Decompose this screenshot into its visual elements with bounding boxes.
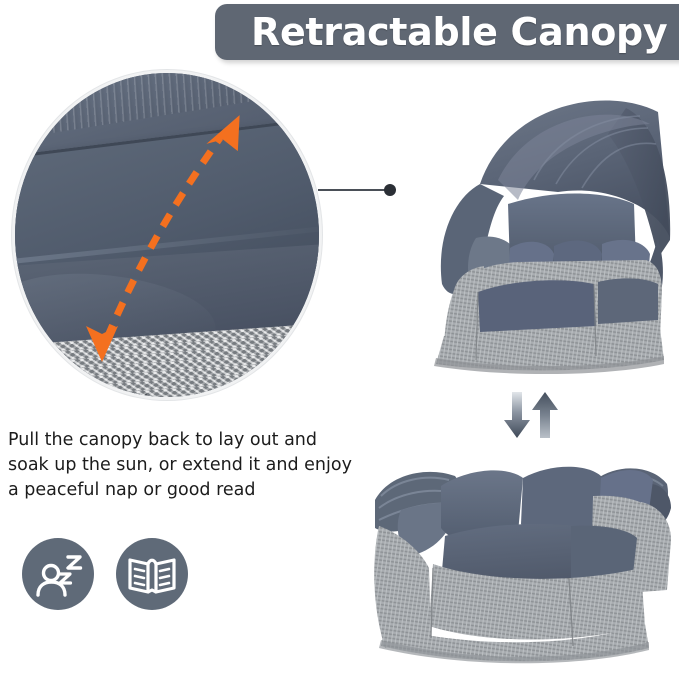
sleeping-person-icon [32,548,84,600]
feature-badge-read [116,538,188,610]
canopy-closeup-magnifier [12,70,322,400]
page-title: Retractable Canopy [251,13,667,51]
description-line-2: soak up the sun, or extend it and enjoy [8,453,348,478]
description-line-3: a peaceful nap or good read [8,478,348,503]
feature-badge-nap [22,538,94,610]
arrow-down-icon [504,392,530,438]
product-photo-canopy-retracted [345,440,679,668]
feature-description: Pull the canopy back to lay out and soak… [8,428,348,503]
open-book-icon [126,548,178,600]
arrow-up-icon [532,392,558,438]
retract-direction-arrow-icon [12,70,322,400]
canopy-transition-arrows [498,390,564,440]
product-photo-canopy-extended [358,88,676,380]
feature-badge-list [22,538,188,610]
description-line-1: Pull the canopy back to lay out and [8,428,348,453]
magnifier-content [12,70,322,400]
product-feature-graphic: Retractable Canopy [0,0,679,687]
title-banner: Retractable Canopy [215,4,679,60]
